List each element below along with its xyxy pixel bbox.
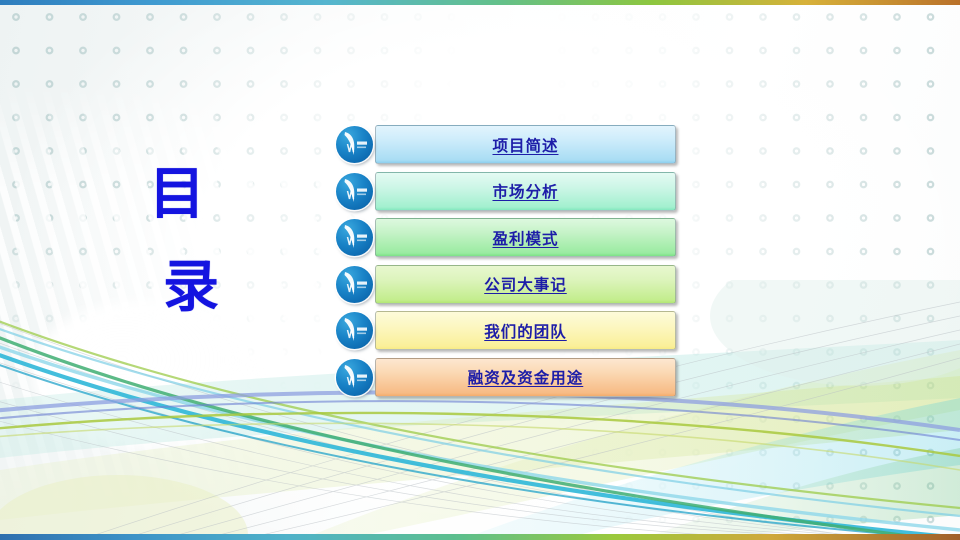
- toc-item-label: 盈利模式: [492, 227, 558, 249]
- top-accent-bar: [0, 0, 960, 5]
- list-item[interactable]: 市场分析: [336, 172, 678, 213]
- company-logo-badge-icon: [336, 266, 373, 303]
- page-title-char-2: 录: [146, 261, 238, 316]
- company-logo-badge-icon: [336, 173, 373, 210]
- toc-item-label: 我们的团队: [484, 320, 567, 342]
- toc-bar[interactable]: 融资及资金用途: [375, 358, 676, 397]
- table-of-contents-list: 项目简述 市场分析: [336, 125, 678, 404]
- page-title-char-1: 目: [118, 168, 238, 223]
- toc-item-label: 公司大事记: [484, 273, 567, 295]
- toc-item-label: 市场分析: [492, 180, 558, 202]
- company-logo-badge-icon: [336, 312, 373, 349]
- list-item[interactable]: 公司大事记: [336, 265, 678, 306]
- company-logo-badge-icon: [336, 359, 373, 396]
- toc-bar[interactable]: 我们的团队: [375, 311, 676, 350]
- toc-bar[interactable]: 盈利模式: [375, 218, 676, 257]
- toc-bar[interactable]: 市场分析: [375, 172, 676, 211]
- toc-bar[interactable]: 项目简述: [375, 125, 676, 164]
- toc-bar[interactable]: 公司大事记: [375, 265, 676, 304]
- toc-item-label: 融资及资金用途: [468, 366, 584, 388]
- list-item[interactable]: 盈利模式: [336, 218, 678, 259]
- page-title: 目 录: [118, 168, 238, 316]
- presentation-slide: 目 录 项目简述: [0, 0, 960, 540]
- company-logo-badge-icon: [336, 126, 373, 163]
- toc-item-label: 项目简述: [492, 134, 558, 156]
- company-logo-badge-icon: [336, 219, 373, 256]
- list-item[interactable]: 融资及资金用途: [336, 358, 678, 399]
- list-item[interactable]: 项目简述: [336, 125, 678, 166]
- bottom-accent-bar: [0, 534, 960, 540]
- list-item[interactable]: 我们的团队: [336, 311, 678, 352]
